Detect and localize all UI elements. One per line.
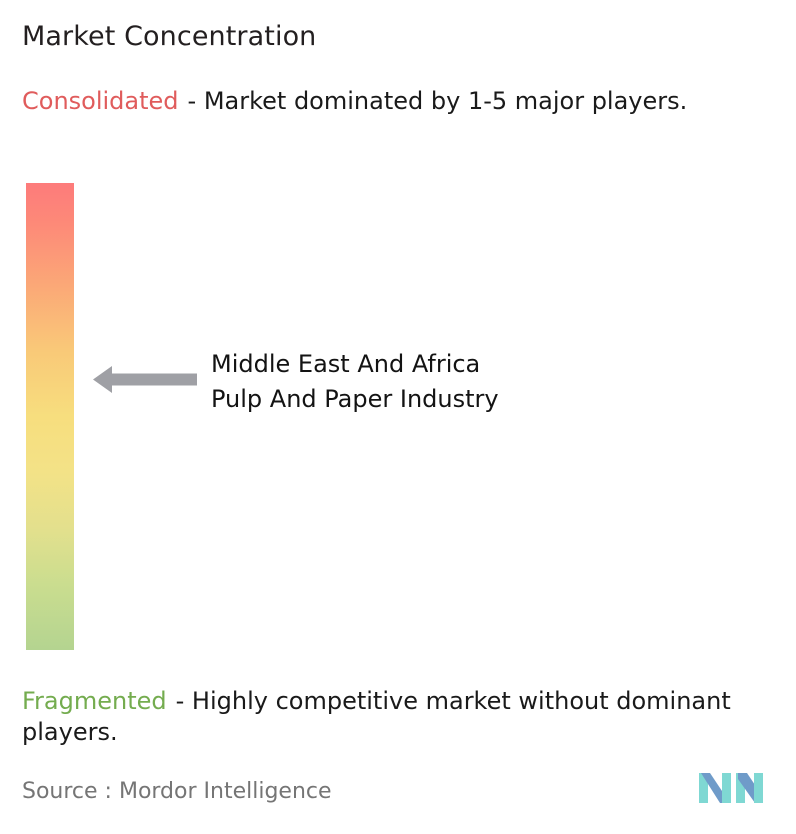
mordor-intelligence-logo bbox=[699, 769, 763, 807]
page-title: Market Concentration bbox=[22, 20, 316, 54]
pointer-label-line-2: Pulp And Paper Industry bbox=[211, 382, 499, 417]
mordor-logo-icon bbox=[699, 769, 763, 807]
legend-description-consolidated: - Market dominated by 1-5 major players. bbox=[188, 87, 688, 115]
pointer-label-line-1: Middle East And Africa bbox=[211, 347, 499, 382]
source-caption: Source : Mordor Intelligence bbox=[22, 778, 332, 806]
legend-fragmented: Fragmented- Highly competitive market wi… bbox=[22, 686, 784, 748]
pointer-label: Middle East And Africa Pulp And Paper In… bbox=[211, 347, 499, 417]
legend-term-fragmented: Fragmented bbox=[22, 687, 167, 715]
legend-consolidated: Consolidated- Market dominated by 1-5 ma… bbox=[22, 86, 784, 117]
pointer-arrow bbox=[93, 366, 197, 393]
legend-term-consolidated: Consolidated bbox=[22, 87, 179, 115]
concentration-scale-bar bbox=[26, 183, 74, 650]
market-concentration-infographic: Market Concentration Consolidated- Marke… bbox=[0, 0, 796, 834]
left-arrow-icon bbox=[93, 366, 197, 393]
